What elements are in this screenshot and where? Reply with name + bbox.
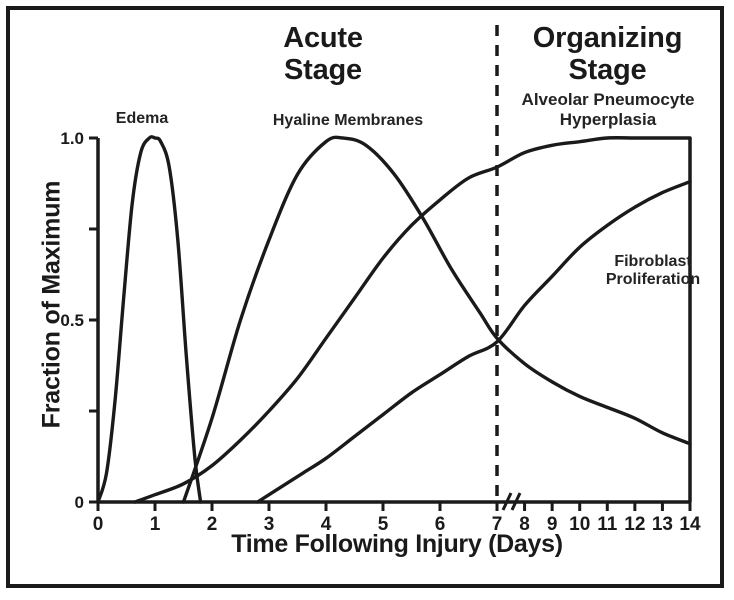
y-axis-title: Fraction of Maximum bbox=[38, 135, 67, 475]
curve-edema bbox=[98, 137, 201, 502]
y-tick-label: 0 bbox=[75, 493, 84, 512]
curve-label-hyaline-membranes: Hyaline Membranes bbox=[258, 112, 438, 130]
figure-canvas: 0123456789101112131400.51.0 Acute Stage … bbox=[0, 0, 734, 600]
acute-stage-title: Acute Stage bbox=[218, 22, 428, 87]
curve-label-alveolar-pneumocyte-hyperplasia: Alveolar Pneumocyte Hyperplasia bbox=[494, 90, 722, 129]
axes-group bbox=[89, 138, 690, 511]
curve-hyaline-membranes bbox=[184, 137, 691, 502]
x-tick-label: 0 bbox=[93, 514, 104, 535]
tick-labels-group: 0123456789101112131400.51.0 bbox=[60, 129, 701, 535]
curves-group bbox=[98, 137, 690, 502]
curve-label-edema: Edema bbox=[92, 110, 192, 128]
curve-alveolar-pneumocyte-hyperplasia bbox=[135, 138, 690, 502]
x-axis-title: Time Following Injury (Days) bbox=[107, 530, 687, 559]
curve-label-fibroblast-proliferation: Fibroblast Proliferation bbox=[588, 253, 718, 290]
organizing-stage-title: Organizing Stage bbox=[495, 22, 720, 87]
